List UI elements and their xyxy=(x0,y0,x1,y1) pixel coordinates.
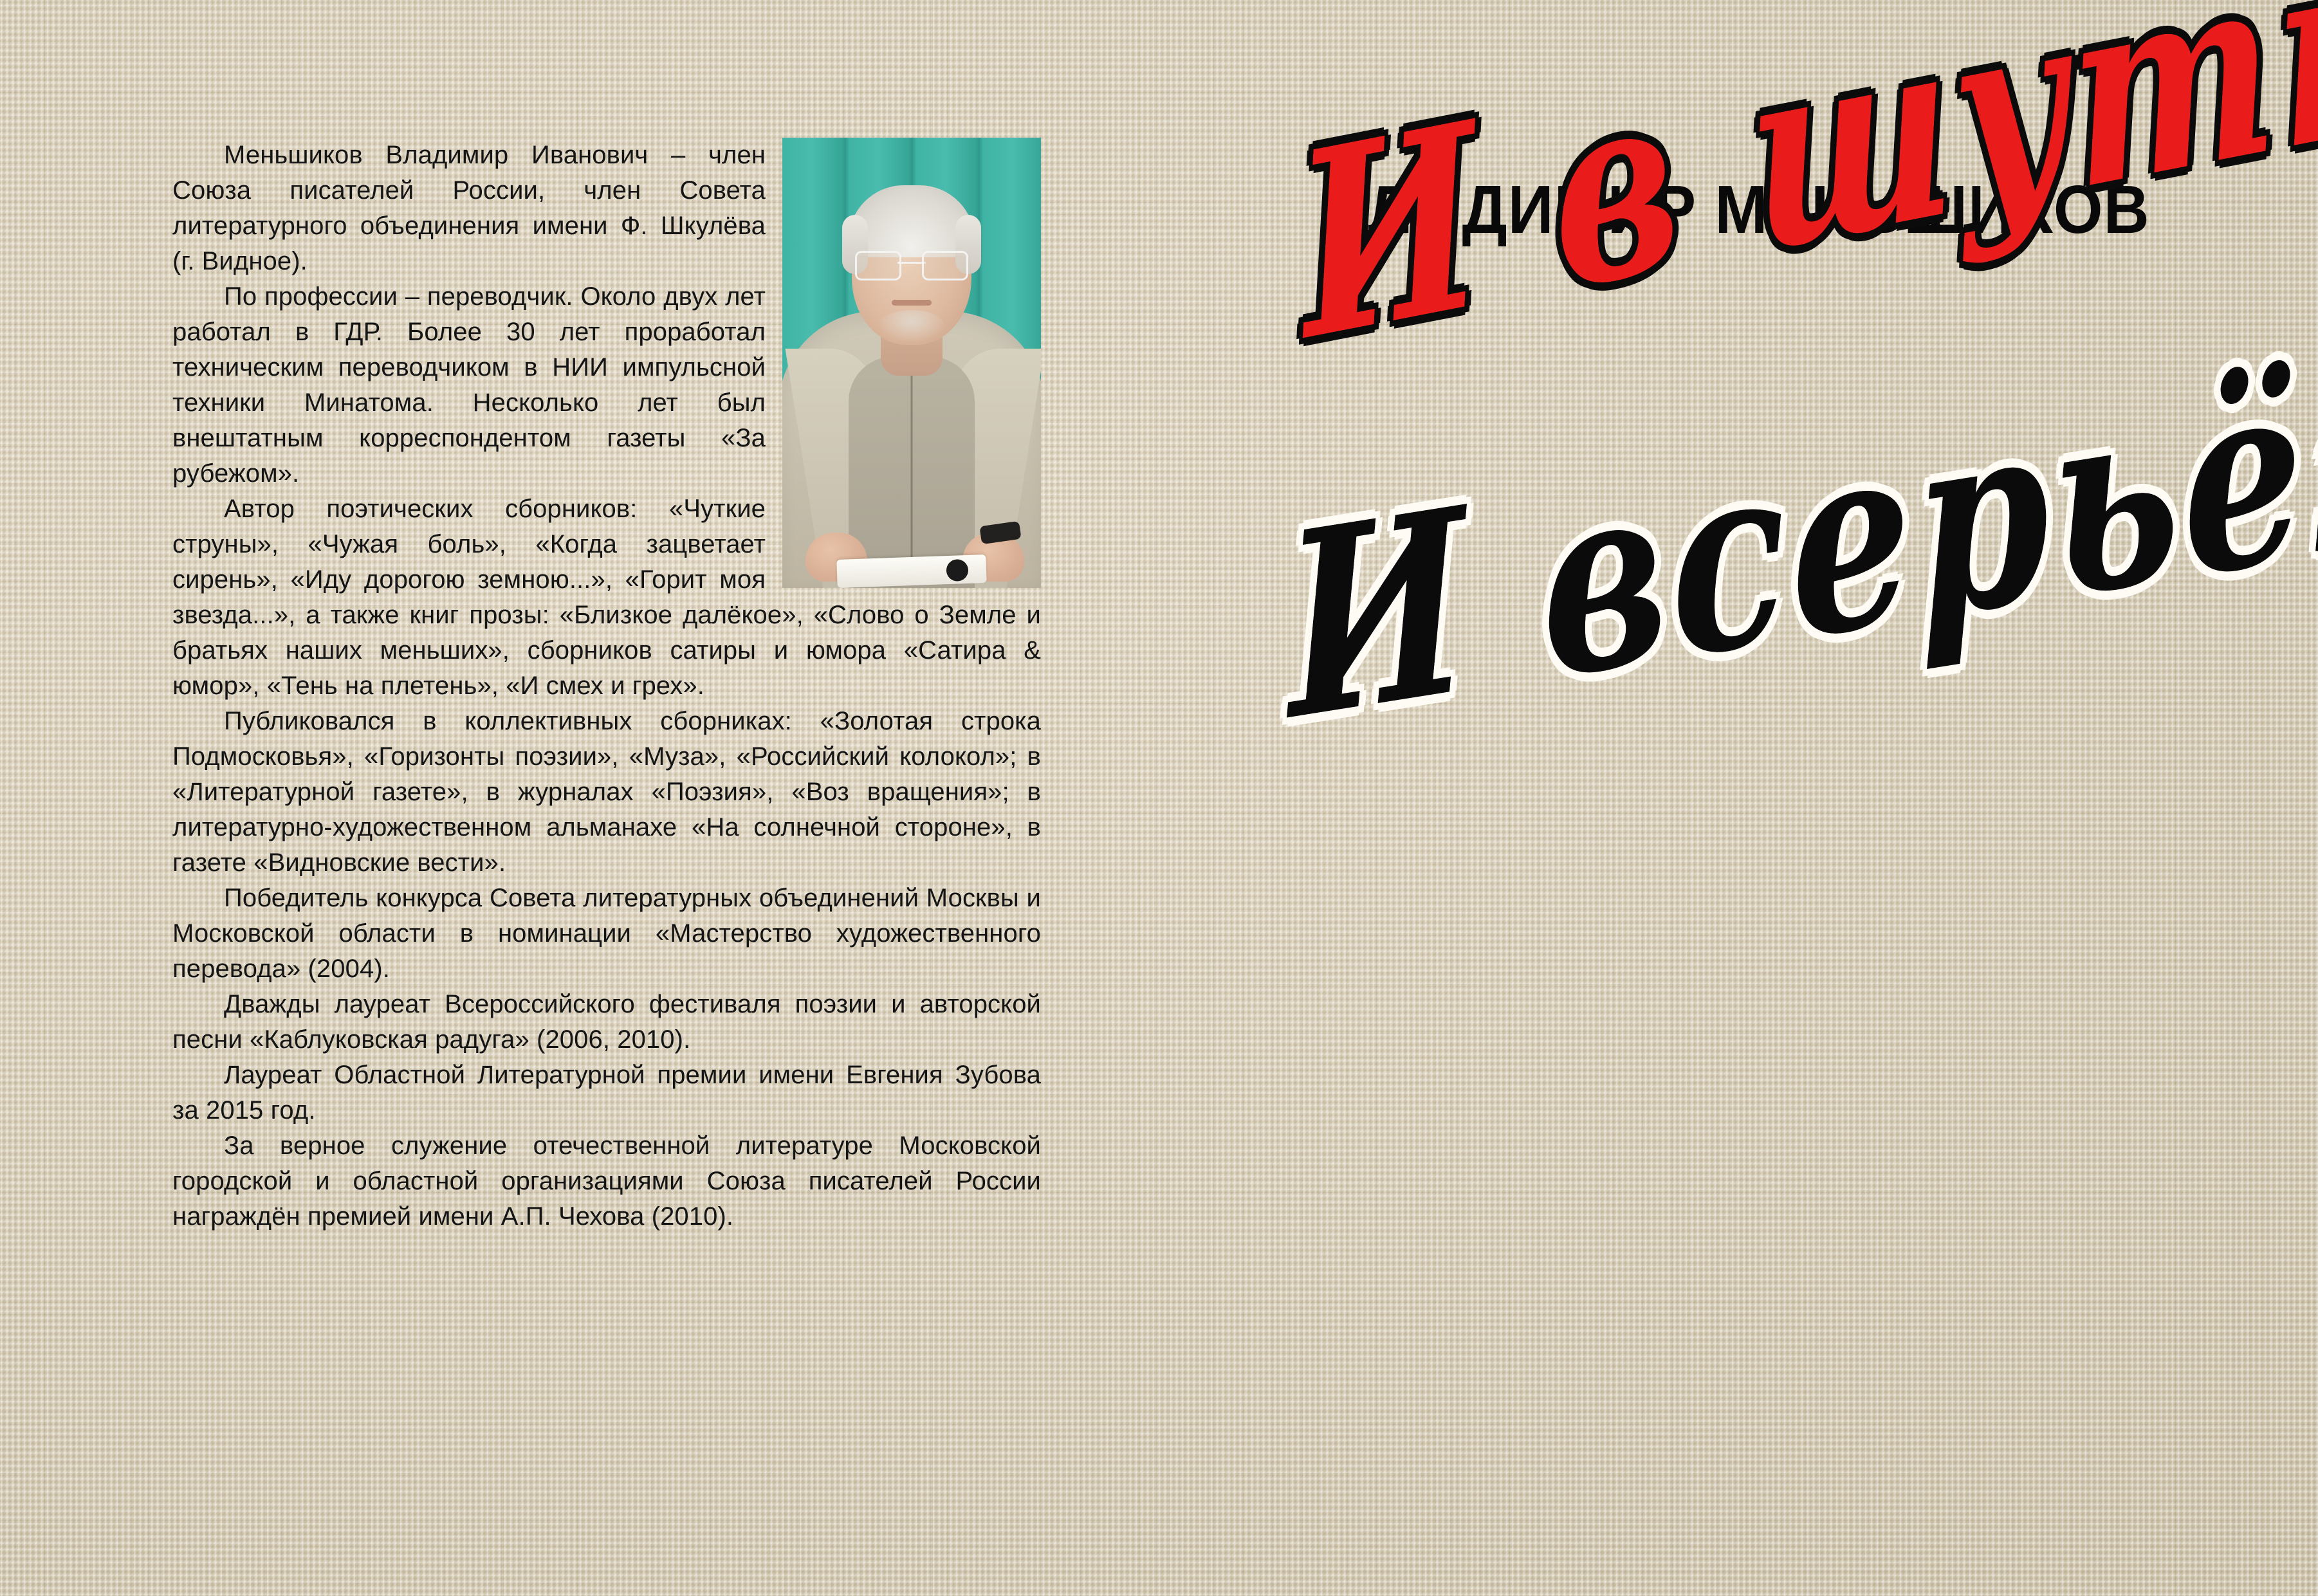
author-photo-image xyxy=(782,138,1041,588)
book-title-line-1: И в шутку, И в шутку, xyxy=(1287,0,2318,396)
photo-shirt xyxy=(849,356,975,588)
bio-paragraph: Публиковался в коллективных сборниках: «… xyxy=(172,704,1041,881)
author-photo xyxy=(782,138,1041,588)
photo-beard xyxy=(878,310,945,342)
photo-glasses-lens-left xyxy=(855,251,901,280)
book-cover-spread: Меньшиков Владимир Иванович – член Союза… xyxy=(0,0,2318,1596)
bio-paragraph: Победитель конкурса Совета литературных … xyxy=(172,881,1041,987)
bio-paragraph: Дважды лауреат Всероссийского фестиваля … xyxy=(172,987,1041,1058)
photo-held-papers xyxy=(836,555,986,588)
photo-hair xyxy=(849,185,975,257)
book-title-line-1-fill: И в шутку, xyxy=(1287,0,2318,396)
back-cover-panel: Меньшиков Владимир Иванович – член Союза… xyxy=(172,138,1041,1234)
bio-paragraph: Лауреат Областной Литературной премии им… xyxy=(172,1058,1041,1128)
photo-glasses-lens-right xyxy=(922,251,968,280)
photo-glasses xyxy=(855,251,968,277)
front-cover-panel: ВЛАДИМИР МЕНЬШИКОВ И в шутку, И в шутку,… xyxy=(1222,0,2318,1596)
bio-paragraph: За верное служение отечественной литерат… xyxy=(172,1128,1041,1234)
photo-mouth xyxy=(892,300,932,306)
